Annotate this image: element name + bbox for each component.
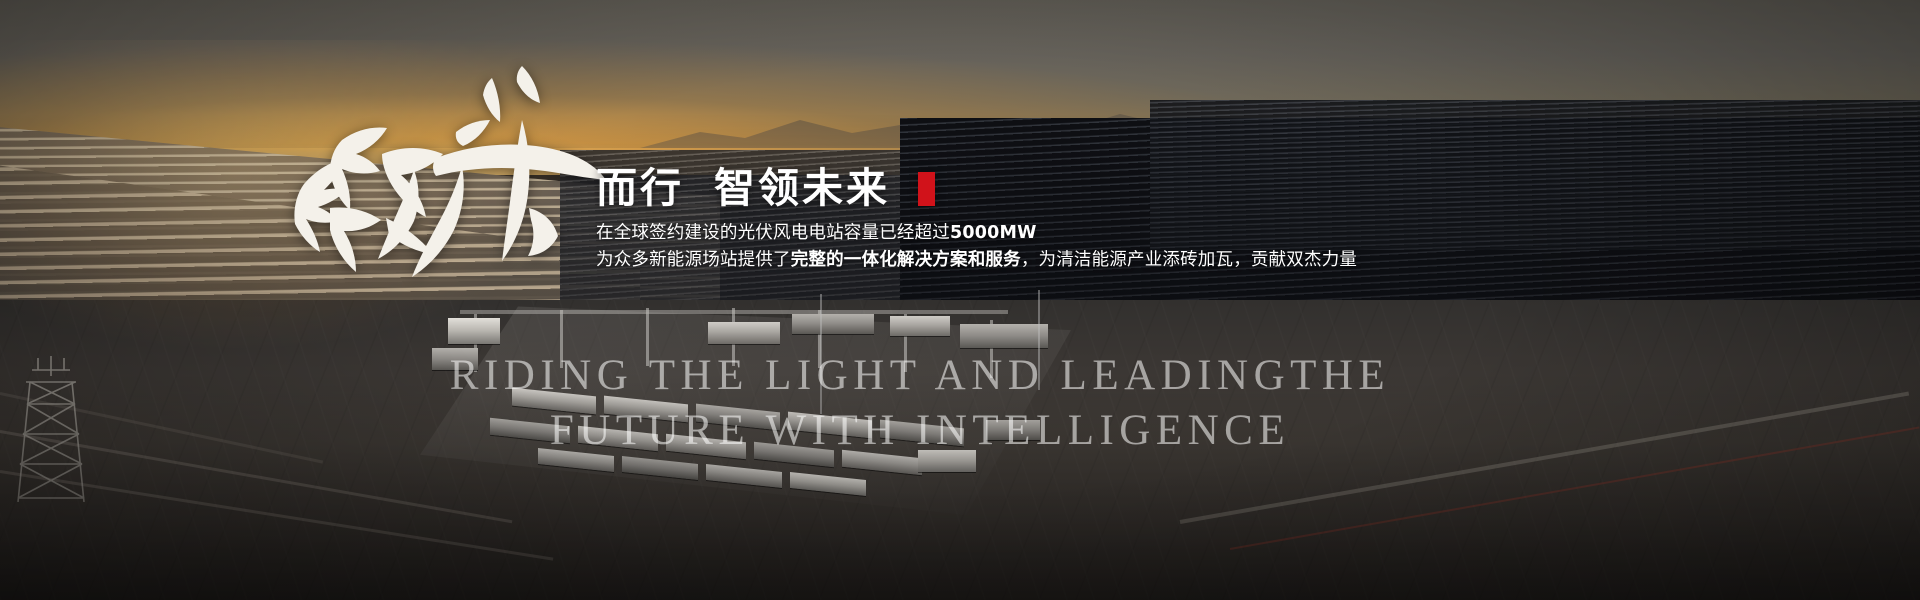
- subtitle-line-2: 为众多新能源场站提供了完整的一体化解决方案和服务，为清洁能源产业添砖加瓦，贡献双…: [596, 247, 1776, 274]
- subtitle-2-text-a: 为众多新能源场站提供了: [596, 250, 791, 270]
- headline-part-1: 而行: [596, 168, 684, 209]
- subtitle-1-text: 在全球签约建设的光伏风电电站容量已经超过: [596, 223, 950, 243]
- headline-part-2: 智领未来: [714, 168, 890, 209]
- subtitle-line-1: 在全球签约建设的光伏风电电站容量已经超过5000MW: [596, 220, 1776, 247]
- background-photo: [0, 0, 1920, 600]
- page-title: 而行 智领未来: [596, 168, 1776, 209]
- subtitle-1-emphasis: 5000MW: [950, 223, 1037, 243]
- vignette-overlay: [0, 0, 1920, 600]
- subtitle-2-text-b: ，为清洁能源产业添砖加瓦，贡献双杰力量: [1021, 250, 1357, 270]
- subtitle-2-emphasis: 完整的一体化解决方案和服务: [791, 250, 1021, 270]
- subtitle-group: 在全球签约建设的光伏风电电站容量已经超过5000MW 为众多新能源场站提供了完整…: [596, 220, 1776, 273]
- accent-red-block: [918, 172, 935, 206]
- headline-text-block: 而行 智领未来 在全球签约建设的光伏风电电站容量已经超过5000MW 为众多新能…: [596, 168, 1776, 273]
- hero-banner: 而行 智领未来 在全球签约建设的光伏风电电站容量已经超过5000MW 为众多新能…: [0, 0, 1920, 600]
